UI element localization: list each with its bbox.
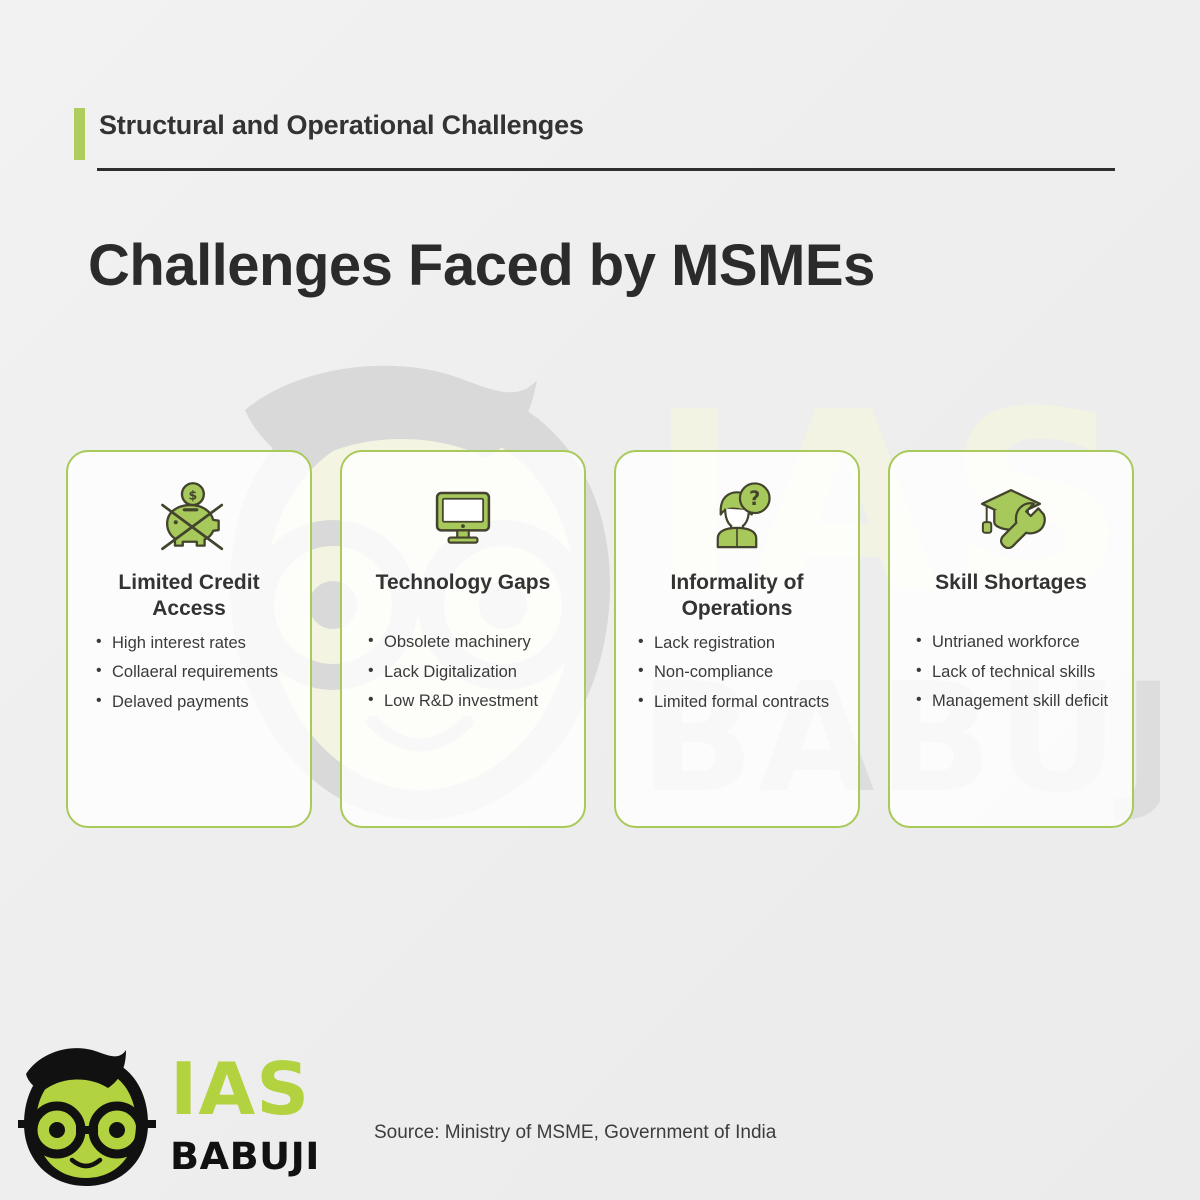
- list-item: Obsolete machinery: [366, 634, 570, 651]
- card-bullet-list: Lack registration Non-compliance Limited…: [628, 635, 846, 711]
- section-kicker: Structural and Operational Challenges: [74, 104, 1124, 174]
- list-item: Delaved payments: [94, 694, 296, 711]
- list-item: Low R&D investment: [366, 693, 570, 710]
- card-icon-wrap: [902, 474, 1120, 558]
- kicker-accent-bar: [74, 108, 85, 160]
- card-title: Limited Credit Access: [80, 570, 298, 623]
- svg-text:$: $: [189, 488, 198, 503]
- kicker-label: Structural and Operational Challenges: [99, 110, 584, 141]
- desktop-monitor-icon: [427, 480, 499, 552]
- logo-text-babuji: BABUJI: [170, 1138, 320, 1175]
- card-bullet-list: High interest rates Collaeral requiremen…: [80, 635, 298, 711]
- card-icon-wrap: [354, 474, 572, 558]
- list-item: Collaeral requirements: [94, 664, 296, 681]
- card-title: Technology Gaps: [354, 570, 572, 596]
- list-item: Lack of technical skills: [914, 664, 1118, 681]
- list-item: Management skill deficit: [914, 693, 1118, 710]
- piggy-bank-crossed-out-icon: $: [150, 477, 228, 555]
- page-title: Challenges Faced by MSMEs: [88, 232, 875, 299]
- list-item: Non-compliance: [636, 664, 844, 681]
- svg-text:?: ?: [749, 487, 760, 510]
- person-question-mark-icon: ?: [700, 479, 774, 553]
- kicker-divider: [97, 168, 1115, 171]
- challenge-card-informality-of-operations[interactable]: ? Informality of Operations Lack registr…: [614, 450, 860, 828]
- list-item: Lack registration: [636, 635, 844, 652]
- card-icon-wrap: ?: [628, 474, 846, 558]
- card-icon-wrap: $: [80, 474, 298, 558]
- challenge-card-row: $ Limited Credit Access High interest ra…: [66, 450, 1134, 828]
- source-attribution: Source: Ministry of MSME, Government of …: [374, 1122, 776, 1144]
- list-item: Untrianed workforce: [914, 634, 1118, 651]
- card-bullet-list: Obsolete machinery Lack Digitalization L…: [354, 634, 572, 710]
- challenge-card-limited-credit-access[interactable]: $ Limited Credit Access High interest ra…: [66, 450, 312, 828]
- graduation-cap-wrench-icon: [971, 478, 1051, 554]
- logo-text-ias: IAS: [170, 1060, 310, 1119]
- infographic-page: IAS BABUJI Structural and Operational Ch…: [0, 0, 1200, 1200]
- challenge-card-skill-shortages[interactable]: Skill Shortages Untrianed workforce Lack…: [888, 450, 1134, 828]
- card-title: Skill Shortages: [902, 570, 1120, 596]
- babuji-face-logo-icon: [12, 1042, 160, 1192]
- list-item: Lack Digitalization: [366, 664, 570, 681]
- list-item: Limited formal contracts: [636, 694, 844, 711]
- card-title: Informality of Operations: [628, 570, 846, 623]
- list-item: High interest rates: [94, 635, 296, 652]
- card-bullet-list: Untrianed workforce Lack of technical sk…: [902, 634, 1120, 710]
- brand-logo: IAS BABUJI: [12, 1042, 312, 1192]
- challenge-card-technology-gaps[interactable]: Technology Gaps Obsolete machinery Lack …: [340, 450, 586, 828]
